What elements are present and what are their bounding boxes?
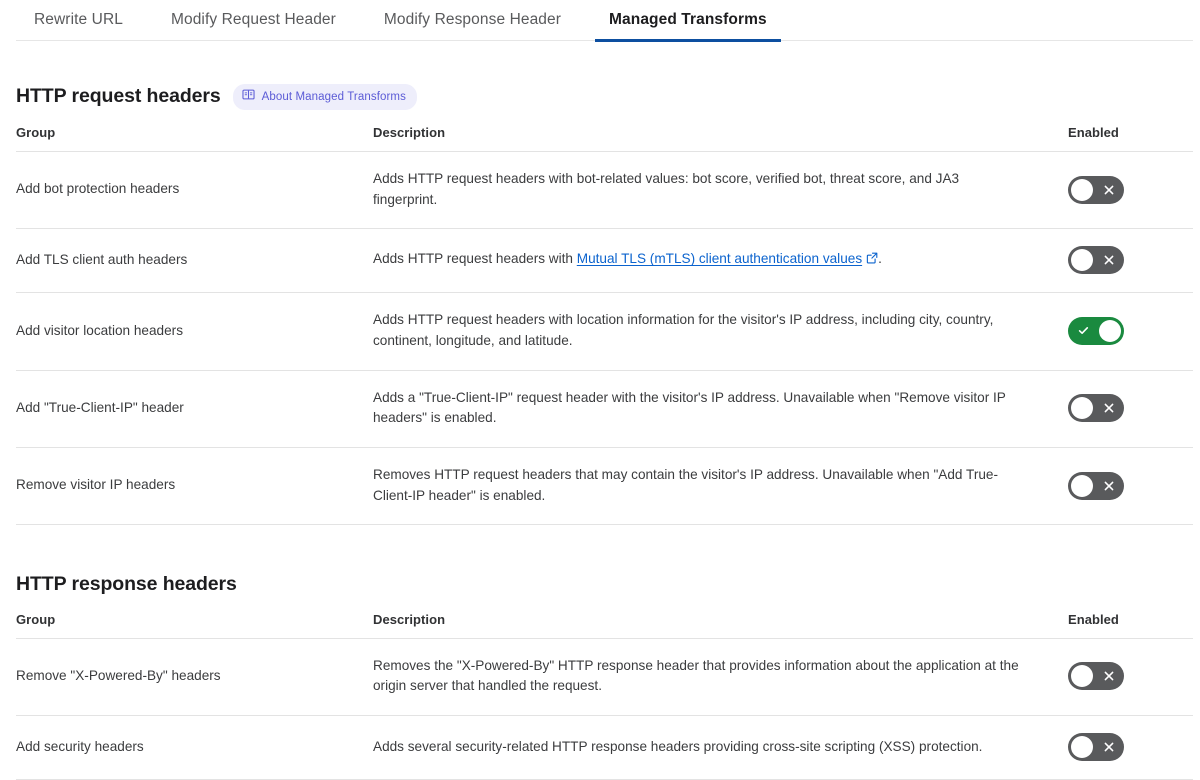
table-row: Add "True-Client-IP" header Adds a "True… [16,370,1193,447]
toggle-knob [1071,475,1093,497]
column-header-group: Group [16,612,373,639]
row-description: Adds HTTP request headers with Mutual TL… [373,229,1068,293]
table-row: Add TLS client auth headers Adds HTTP re… [16,229,1193,293]
table-row: Remove "X-Powered-By" headers Removes th… [16,638,1193,715]
row-enabled-cell [1068,370,1193,447]
row-enabled-cell [1068,638,1193,715]
table-row: Remove visitor IP headers Removes HTTP r… [16,447,1193,524]
toggle-knob [1071,179,1093,201]
section-http-response-headers: HTTP response headers Group Description … [0,573,1200,780]
column-header-description: Description [373,612,1068,639]
toggle-remove-x-powered-by-headers[interactable] [1068,662,1124,690]
page-title: HTTP request headers [16,85,221,108]
close-icon [1093,176,1124,204]
column-header-group: Group [16,125,373,152]
row-description: Removes the "X-Powered-By" HTTP response… [373,638,1068,715]
close-icon [1093,733,1124,761]
row-enabled-cell [1068,293,1193,370]
close-icon [1093,662,1124,690]
row-description: Adds several security-related HTTP respo… [373,715,1068,779]
row-enabled-cell [1068,152,1193,229]
column-header-description: Description [373,125,1068,152]
section-header: HTTP response headers [16,573,1193,596]
row-description: Removes HTTP request headers that may co… [373,447,1068,524]
row-enabled-cell [1068,715,1193,779]
transforms-tabbar: Rewrite URL Modify Request Header Modify… [0,0,1200,41]
description-text-after: . [878,251,882,266]
toggle-knob [1071,736,1093,758]
toggle-knob [1071,397,1093,419]
column-header-enabled: Enabled [1068,612,1193,639]
table-row: Add bot protection headers Adds HTTP req… [16,152,1193,229]
toggle-add-security-headers[interactable] [1068,733,1124,761]
column-header-enabled: Enabled [1068,125,1193,152]
tab-rewrite-url[interactable]: Rewrite URL [34,0,123,41]
table-header-row: Group Description Enabled [16,612,1193,639]
close-icon [1093,246,1124,274]
about-managed-transforms-badge[interactable]: About Managed Transforms [233,84,417,110]
row-group-label: Add TLS client auth headers [16,229,373,293]
row-group-label: Remove visitor IP headers [16,447,373,524]
toggle-add-visitor-location-headers[interactable] [1068,317,1124,345]
tab-managed-transforms[interactable]: Managed Transforms [609,0,767,41]
row-description: Adds HTTP request headers with location … [373,293,1068,370]
row-description: Adds a "True-Client-IP" request header w… [373,370,1068,447]
row-enabled-cell [1068,447,1193,524]
close-icon [1093,394,1124,422]
tab-modify-response-header[interactable]: Modify Response Header [384,0,561,41]
table-row: Add security headers Adds several securi… [16,715,1193,779]
response-headers-table: Group Description Enabled Remove "X-Powe… [16,612,1193,780]
section-http-request-headers: HTTP request headers About Managed Trans… [0,84,1200,525]
toggle-knob [1071,249,1093,271]
table-header-row: Group Description Enabled [16,125,1193,152]
close-icon [1093,472,1124,500]
toggle-add-bot-protection-headers[interactable] [1068,176,1124,204]
mutual-tls-link[interactable]: Mutual TLS (mTLS) client authentication … [577,251,862,266]
external-link-icon [866,250,878,271]
tab-modify-request-header[interactable]: Modify Request Header [171,0,336,41]
section-header: HTTP request headers About Managed Trans… [16,84,1193,110]
about-badge-label: About Managed Transforms [262,91,406,103]
toggle-add-tls-client-auth-headers[interactable] [1068,246,1124,274]
row-group-label: Add visitor location headers [16,293,373,370]
row-group-label: Add security headers [16,715,373,779]
row-group-label: Add bot protection headers [16,152,373,229]
toggle-knob [1099,320,1121,342]
row-group-label: Remove "X-Powered-By" headers [16,638,373,715]
toggle-add-true-client-ip-header[interactable] [1068,394,1124,422]
request-headers-table: Group Description Enabled Add bot protec… [16,125,1193,525]
row-description: Adds HTTP request headers with bot-relat… [373,152,1068,229]
row-group-label: Add "True-Client-IP" header [16,370,373,447]
section-title-response: HTTP response headers [16,573,237,596]
toggle-knob [1071,665,1093,687]
check-icon [1068,317,1099,345]
book-icon [242,88,255,106]
row-enabled-cell [1068,229,1193,293]
description-text-before: Adds HTTP request headers with [373,251,577,266]
toggle-remove-visitor-ip-headers[interactable] [1068,472,1124,500]
table-row: Add visitor location headers Adds HTTP r… [16,293,1193,370]
